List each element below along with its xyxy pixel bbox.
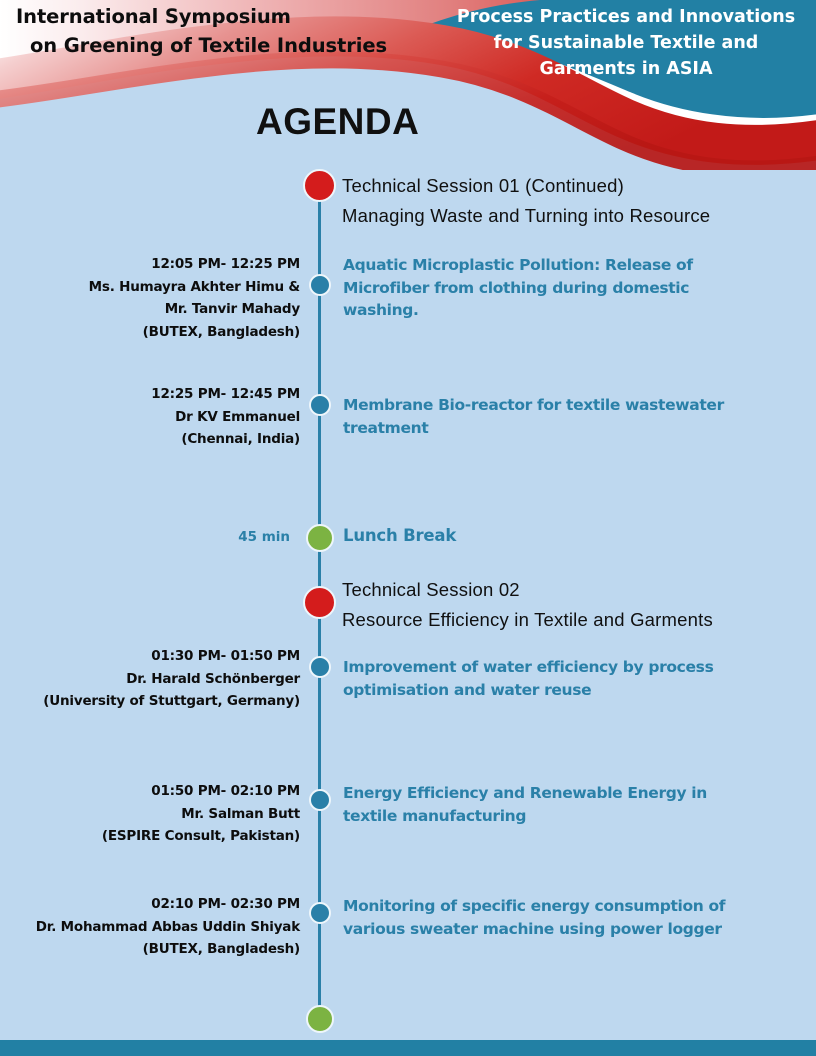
talk-2-speaker-line1: Dr KV Emmanuel	[0, 406, 300, 429]
talk-1-topic-line2: Microfiber from clothing during domestic	[343, 277, 798, 300]
session-01-title-line1: Technical Session 01 (Continued)	[342, 171, 812, 201]
talk-4-time: 01:50 PM- 02:10 PM	[0, 780, 300, 803]
theme-title-line1: Process Practices and Innovations	[440, 4, 812, 30]
talk-3-meta: 01:30 PM- 01:50 PM Dr. Harald Schönberge…	[0, 645, 300, 713]
talk-3-speaker-line1: Dr. Harald Schönberger	[0, 668, 300, 691]
timeline-node-talk-2	[309, 394, 331, 416]
talk-2-topic-line2: treatment	[343, 417, 798, 440]
theme-title-line3: Garments in ASIA	[440, 56, 812, 82]
agenda-poster: International Symposium on Greening of T…	[0, 0, 816, 1056]
footer-bar	[0, 1040, 816, 1056]
talk-4-speaker-line1: Mr. Salman Butt	[0, 803, 300, 826]
talk-5-time: 02:10 PM- 02:30 PM	[0, 893, 300, 916]
talk-1-speaker-line2: Mr. Tanvir Mahady	[0, 298, 300, 321]
talk-3-affiliation: (University of Stuttgart, Germany)	[0, 690, 300, 713]
session-02-title-line1: Technical Session 02	[342, 575, 812, 605]
talk-4-meta: 01:50 PM- 02:10 PM Mr. Salman Butt (ESPI…	[0, 780, 300, 848]
talk-1-meta: 12:05 PM- 12:25 PM Ms. Humayra Akhter Hi…	[0, 253, 300, 343]
timeline-node-session-01	[303, 169, 336, 202]
timeline-node-session-02	[303, 586, 336, 619]
timeline-node-talk-1	[309, 274, 331, 296]
talk-4-topic-line1: Energy Efficiency and Renewable Energy i…	[343, 782, 798, 805]
talk-1-affiliation: (BUTEX, Bangladesh)	[0, 321, 300, 344]
page-title: AGENDA	[256, 101, 419, 143]
talk-5-topic-line2: various sweater machine using power logg…	[343, 918, 798, 941]
talk-4-topic: Energy Efficiency and Renewable Energy i…	[343, 782, 798, 827]
timeline-node-talk-5	[309, 902, 331, 924]
talk-2-meta: 12:25 PM- 12:45 PM Dr KV Emmanuel (Chenn…	[0, 383, 300, 451]
talk-1-time: 12:05 PM- 12:25 PM	[0, 253, 300, 276]
talk-5-affiliation: (BUTEX, Bangladesh)	[0, 938, 300, 961]
talk-5-topic: Monitoring of specific energy consumptio…	[343, 895, 798, 940]
talk-2-topic-line1: Membrane Bio-reactor for textile wastewa…	[343, 394, 798, 417]
symposium-title-line2: on Greening of Textile Industries	[8, 31, 428, 60]
session-02-title: Technical Session 02 Resource Efficiency…	[342, 575, 812, 635]
talk-2-topic: Membrane Bio-reactor for textile wastewa…	[343, 394, 798, 439]
talk-3-topic-line1: Improvement of water efficiency by proce…	[343, 656, 798, 679]
talk-1-speaker-line1: Ms. Humayra Akhter Himu &	[0, 276, 300, 299]
talk-3-topic: Improvement of water efficiency by proce…	[343, 656, 798, 701]
talk-3-time: 01:30 PM- 01:50 PM	[0, 645, 300, 668]
talk-2-affiliation: (Chennai, India)	[0, 428, 300, 451]
theme-title: Process Practices and Innovations for Su…	[440, 4, 812, 82]
timeline-node-end	[306, 1005, 334, 1033]
talk-4-topic-line2: textile manufacturing	[343, 805, 798, 828]
talk-1-topic: Aquatic Microplastic Pollution: Release …	[343, 254, 798, 322]
timeline-node-talk-3	[309, 656, 331, 678]
talk-5-speaker-line1: Dr. Mohammad Abbas Uddin Shiyak	[0, 916, 300, 939]
talk-2-time: 12:25 PM- 12:45 PM	[0, 383, 300, 406]
talk-5-topic-line1: Monitoring of specific energy consumptio…	[343, 895, 798, 918]
symposium-title: International Symposium on Greening of T…	[8, 2, 428, 60]
session-01-title-line2: Managing Waste and Turning into Resource	[342, 201, 812, 231]
theme-title-line2: for Sustainable Textile and	[440, 30, 812, 56]
symposium-title-line1: International Symposium	[8, 2, 428, 31]
talk-1-topic-line3: washing.	[343, 299, 798, 322]
session-02-title-line2: Resource Efficiency in Textile and Garme…	[342, 605, 812, 635]
lunch-break-duration: 45 min	[0, 529, 290, 545]
talk-1-topic-line1: Aquatic Microplastic Pollution: Release …	[343, 254, 798, 277]
talk-5-meta: 02:10 PM- 02:30 PM Dr. Mohammad Abbas Ud…	[0, 893, 300, 961]
timeline-node-talk-4	[309, 789, 331, 811]
talk-4-affiliation: (ESPIRE Consult, Pakistan)	[0, 825, 300, 848]
timeline-node-lunch-break	[306, 524, 334, 552]
talk-3-topic-line2: optimisation and water reuse	[343, 679, 798, 702]
session-01-title: Technical Session 01 (Continued) Managin…	[342, 171, 812, 231]
lunch-break-label: Lunch Break	[343, 526, 456, 545]
